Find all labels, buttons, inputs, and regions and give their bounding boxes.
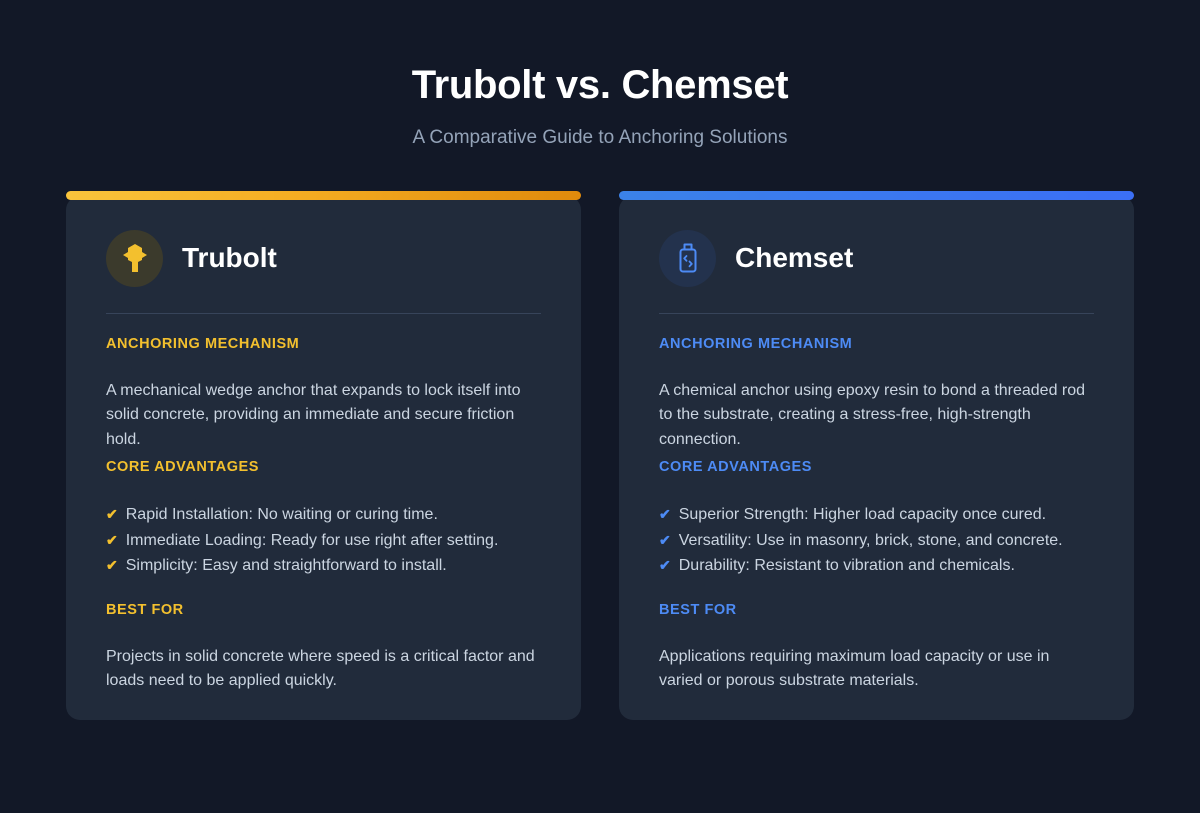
- card-header-trubolt: Trubolt: [106, 230, 541, 313]
- card-divider-chemset: [659, 313, 1094, 314]
- list-item: ✔ Durability: Resistant to vibration and…: [659, 553, 1094, 579]
- card-chemset: Chemset ANCHORING MECHANISM A chemical a…: [619, 191, 1134, 720]
- page-title: Trubolt vs. Chemset: [0, 62, 1200, 108]
- check-icon: ✔: [106, 502, 118, 527]
- check-icon: ✔: [106, 553, 118, 578]
- list-item: ✔ Immediate Loading: Ready for use right…: [106, 528, 541, 554]
- list-item: ✔ Rapid Installation: No waiting or curi…: [106, 502, 541, 528]
- card-title-chemset: Chemset: [735, 243, 853, 274]
- check-icon: ✔: [659, 502, 671, 527]
- section-label-advantages-chemset: CORE ADVANTAGES: [659, 459, 1094, 475]
- advantages-list-trubolt: ✔ Rapid Installation: No waiting or curi…: [106, 502, 541, 579]
- section-label-bestfor-chemset: BEST FOR: [659, 602, 1094, 618]
- list-item: ✔ Simplicity: Easy and straightforward t…: [106, 553, 541, 579]
- card-accent-bar-chemset: [619, 191, 1134, 200]
- card-divider-trubolt: [106, 313, 541, 314]
- list-item: ✔ Superior Strength: Higher load capacit…: [659, 502, 1094, 528]
- page-subtitle: A Comparative Guide to Anchoring Solutio…: [0, 127, 1200, 150]
- section-text-mechanism-chemset: A chemical anchor using epoxy resin to b…: [659, 379, 1094, 453]
- list-item-label: Versatility: Use in masonry, brick, ston…: [679, 529, 1063, 554]
- check-icon: ✔: [659, 553, 671, 578]
- wedge-anchor-bolt-icon: [106, 230, 163, 287]
- card-body-trubolt: Trubolt ANCHORING MECHANISM A mechanical…: [66, 196, 581, 720]
- chemical-cartridge-icon: [659, 230, 716, 287]
- list-item: ✔ Versatility: Use in masonry, brick, st…: [659, 528, 1094, 554]
- comparison-page: Trubolt vs. Chemset A Comparative Guide …: [0, 0, 1200, 813]
- list-item-label: Superior Strength: Higher load capacity …: [679, 503, 1046, 528]
- card-header-chemset: Chemset: [659, 230, 1094, 313]
- card-trubolt: Trubolt ANCHORING MECHANISM A mechanical…: [66, 191, 581, 720]
- comparison-cards: Trubolt ANCHORING MECHANISM A mechanical…: [66, 191, 1134, 720]
- section-label-mechanism-trubolt: ANCHORING MECHANISM: [106, 336, 541, 352]
- list-item-label: Durability: Resistant to vibration and c…: [679, 554, 1015, 579]
- card-body-chemset: Chemset ANCHORING MECHANISM A chemical a…: [619, 196, 1134, 720]
- check-icon: ✔: [659, 528, 671, 553]
- list-item-label: Rapid Installation: No waiting or curing…: [126, 503, 438, 528]
- section-text-bestfor-trubolt: Projects in solid concrete where speed i…: [106, 645, 541, 694]
- section-label-advantages-trubolt: CORE ADVANTAGES: [106, 459, 541, 475]
- page-header: Trubolt vs. Chemset A Comparative Guide …: [0, 0, 1200, 150]
- section-text-mechanism-trubolt: A mechanical wedge anchor that expands t…: [106, 379, 541, 453]
- list-item-label: Simplicity: Easy and straightforward to …: [126, 554, 447, 579]
- advantages-list-chemset: ✔ Superior Strength: Higher load capacit…: [659, 502, 1094, 579]
- card-accent-bar-trubolt: [66, 191, 581, 200]
- check-icon: ✔: [106, 528, 118, 553]
- section-text-bestfor-chemset: Applications requiring maximum load capa…: [659, 645, 1094, 694]
- section-label-bestfor-trubolt: BEST FOR: [106, 602, 541, 618]
- section-label-mechanism-chemset: ANCHORING MECHANISM: [659, 336, 1094, 352]
- list-item-label: Immediate Loading: Ready for use right a…: [126, 529, 499, 554]
- card-title-trubolt: Trubolt: [182, 243, 277, 274]
